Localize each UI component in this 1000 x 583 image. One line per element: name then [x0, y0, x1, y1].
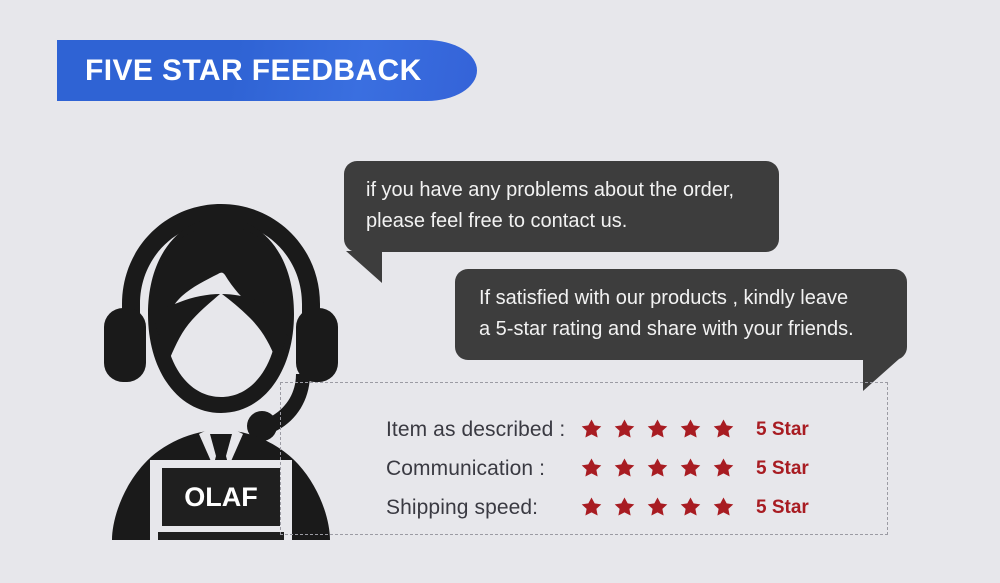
- star-icon: [613, 418, 636, 441]
- star-icon: [712, 496, 735, 519]
- star-icon: [712, 457, 735, 480]
- star-icon: [646, 418, 669, 441]
- star-icon: [613, 496, 636, 519]
- rating-row: Shipping speed: 5 Star: [386, 488, 856, 527]
- speech-bubble-rating-request: If satisfied with our products , kindly …: [455, 269, 907, 360]
- header-banner: FIVE STAR FEEDBACK: [57, 40, 477, 101]
- star-icon: [712, 418, 735, 441]
- rating-row: Item as described : 5 Star: [386, 410, 856, 449]
- star-rating: [580, 496, 750, 519]
- page-title: FIVE STAR FEEDBACK: [85, 56, 422, 86]
- ratings-list: Item as described : 5 Star Communication…: [386, 410, 856, 527]
- rating-value: 5 Star: [750, 419, 809, 441]
- star-icon: [679, 457, 702, 480]
- feedback-banner-canvas: FIVE STAR FEEDBACK: [0, 0, 1000, 583]
- rating-row: Communication : 5 Star: [386, 449, 856, 488]
- star-rating: [580, 418, 750, 441]
- star-icon: [679, 418, 702, 441]
- speech-bubble-tail-left-icon: [346, 251, 382, 283]
- rating-value: 5 Star: [750, 497, 809, 519]
- laptop-brand-label: OLAF: [184, 482, 258, 512]
- rating-value: 5 Star: [750, 458, 809, 480]
- star-icon: [580, 457, 603, 480]
- rating-label: Communication :: [386, 457, 580, 481]
- star-icon: [646, 496, 669, 519]
- speech-bubble-agent-text: if you have any problems about the order…: [366, 175, 759, 237]
- rating-label: Shipping speed:: [386, 496, 580, 520]
- speech-bubble-rating-request-text: If satisfied with our products , kindly …: [479, 283, 887, 345]
- speech-bubble-agent: if you have any problems about the order…: [344, 161, 779, 252]
- star-icon: [613, 457, 636, 480]
- star-icon: [679, 496, 702, 519]
- star-rating: [580, 457, 750, 480]
- star-icon: [580, 418, 603, 441]
- star-icon: [646, 457, 669, 480]
- star-icon: [580, 496, 603, 519]
- rating-label: Item as described :: [386, 418, 580, 442]
